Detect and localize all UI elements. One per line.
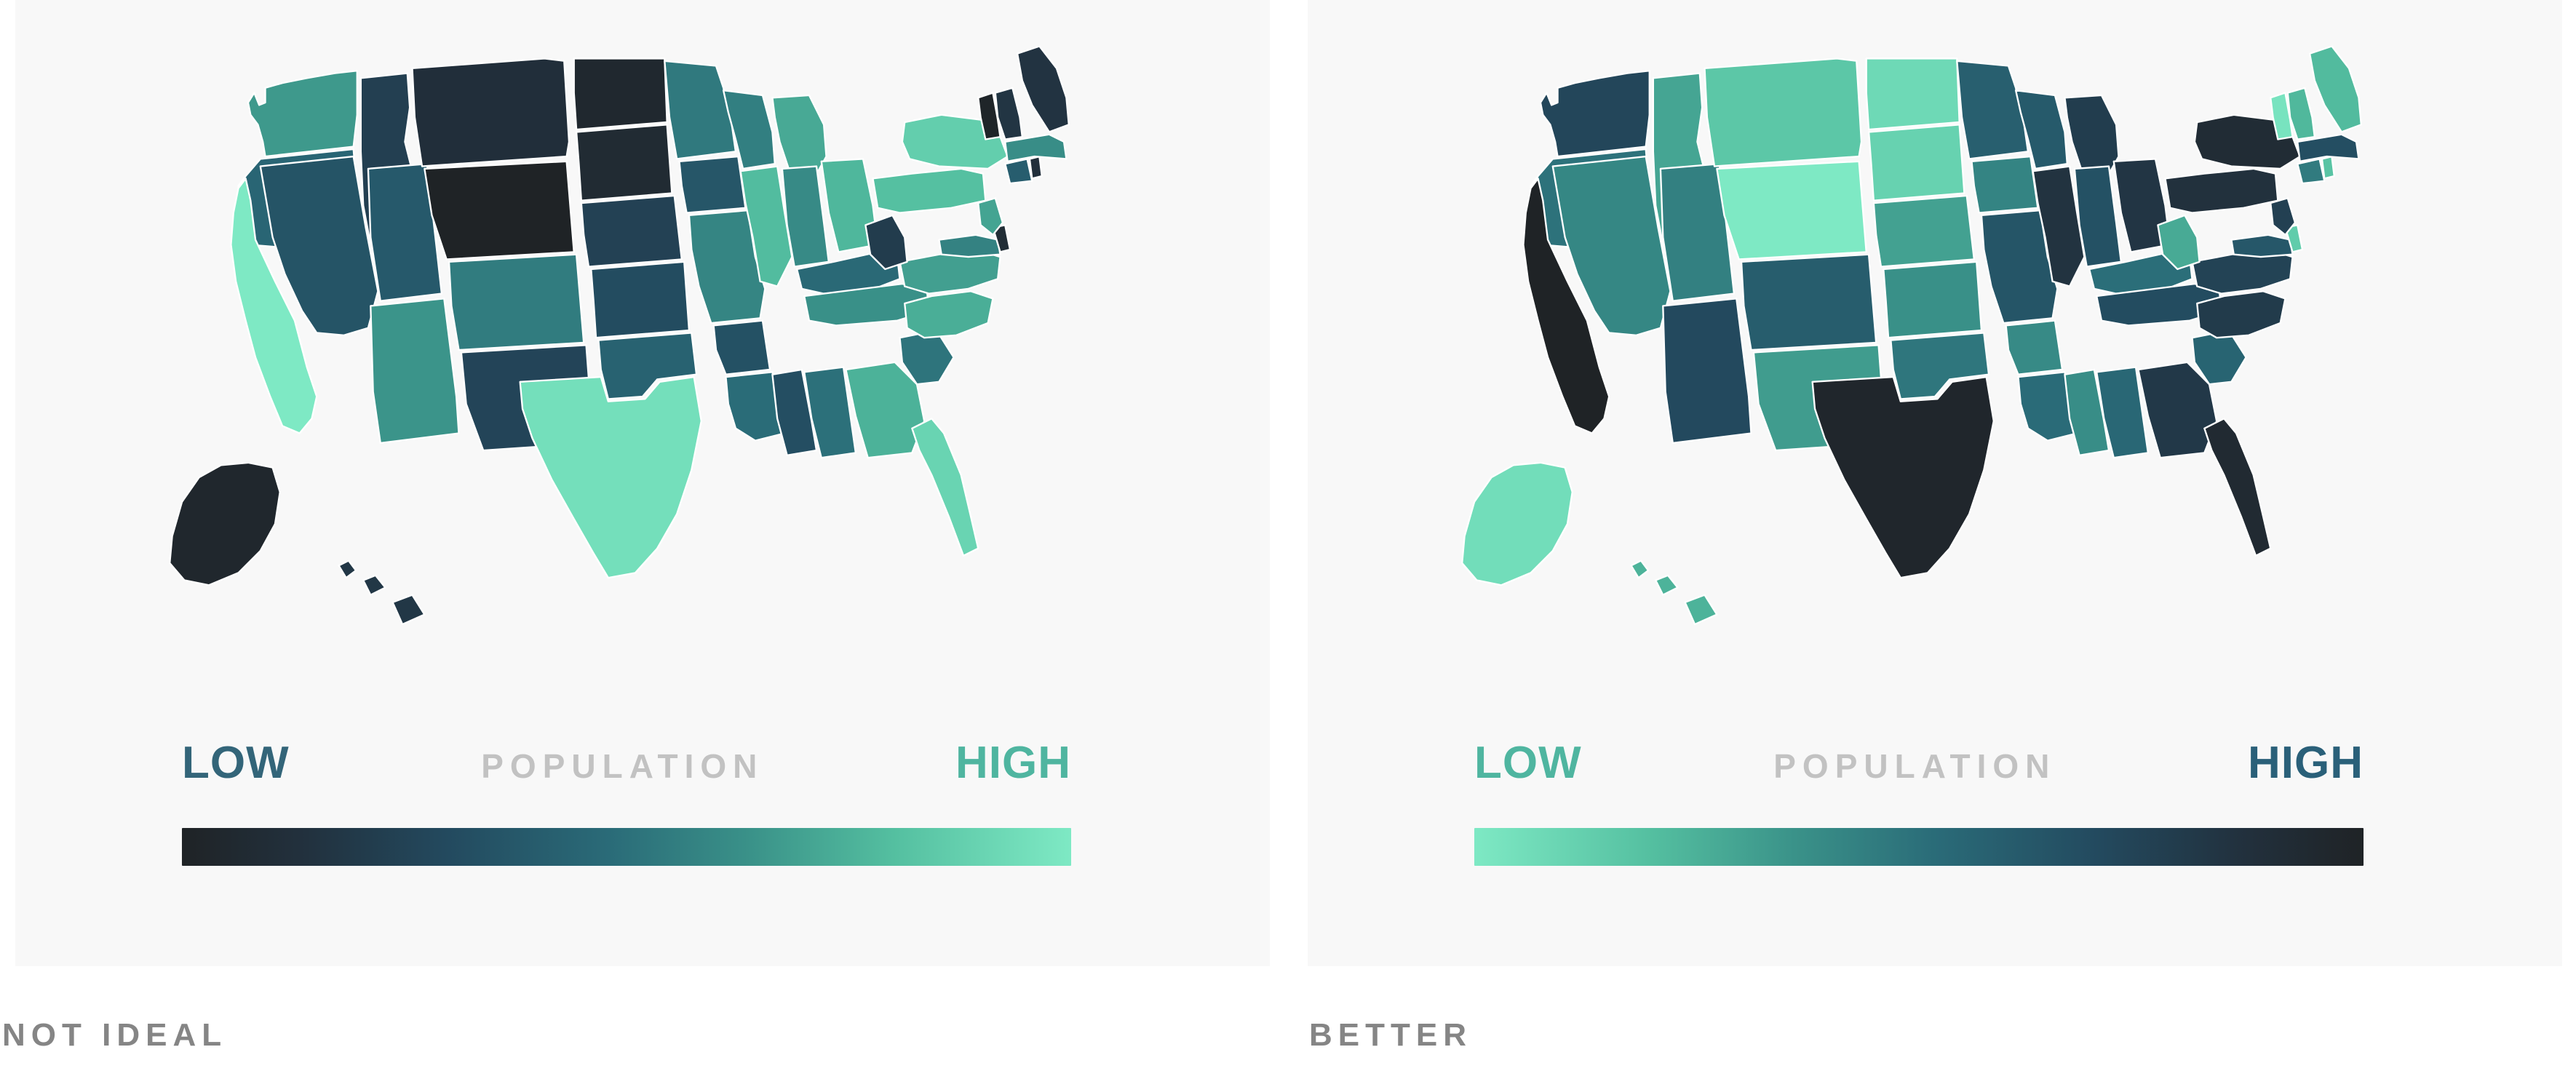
state-fl	[2204, 418, 2270, 556]
state-md	[939, 235, 1000, 257]
panel-better: LOW POPULATION HIGH	[1308, 0, 2562, 966]
legend-low-label: LOW	[182, 741, 290, 786]
state-md	[2231, 235, 2292, 257]
state-ar	[714, 321, 770, 375]
state-hi	[363, 576, 385, 595]
comparison-board: LOW POPULATION HIGH NOT IDEAL LOW POPULA…	[0, 0, 2576, 1087]
state-wy	[1717, 162, 1866, 260]
state-ct	[1005, 159, 1032, 183]
state-ks	[591, 262, 689, 338]
legend-high-label: HIGH	[2248, 741, 2364, 786]
caption-better: BETTER	[1309, 1017, 1472, 1054]
panel-not-ideal: LOW POPULATION HIGH	[15, 0, 1270, 966]
state-tx	[1813, 377, 1994, 578]
legend-low-label: LOW	[1474, 741, 1582, 786]
state-sd	[576, 124, 672, 200]
state-mt	[1705, 58, 1861, 166]
state-tx	[520, 377, 701, 578]
state-mn	[664, 61, 736, 159]
state-ct	[2297, 159, 2324, 183]
state-ak	[170, 463, 280, 585]
state-ak	[1462, 463, 1573, 585]
legend-labels-right: LOW POPULATION HIGH	[1474, 741, 2364, 793]
state-hi	[1655, 576, 1677, 595]
choropleth-map-right	[1308, 29, 2562, 764]
us-map-svg-right	[1308, 29, 2562, 764]
state-sd	[1869, 124, 1964, 200]
caption-not-ideal: NOT IDEAL	[2, 1017, 227, 1054]
state-hi	[393, 595, 425, 624]
state-az	[1663, 298, 1751, 443]
state-ne	[1874, 196, 1974, 267]
state-wa	[1541, 71, 1650, 156]
state-hi	[1685, 595, 1717, 624]
state-mi	[2064, 95, 2118, 178]
state-pa	[872, 169, 985, 213]
state-nd	[574, 58, 667, 130]
state-ks	[1883, 262, 1981, 338]
legend-color-ramp	[182, 828, 1071, 866]
state-ar	[2006, 321, 2062, 375]
state-nd	[1867, 58, 1960, 130]
state-ne	[581, 196, 682, 267]
state-fl	[912, 418, 978, 556]
legend-variable-label: POPULATION	[1773, 749, 2056, 783]
legend-right: LOW POPULATION HIGH	[1474, 741, 2364, 866]
legend-high-label: HIGH	[955, 741, 1071, 786]
state-mi	[772, 95, 826, 178]
state-co	[449, 255, 584, 350]
state-az	[370, 298, 458, 443]
state-co	[1741, 255, 1876, 350]
legend-labels-left: LOW POPULATION HIGH	[182, 741, 1071, 793]
state-ia	[680, 156, 746, 212]
state-wa	[248, 71, 357, 156]
state-mt	[413, 58, 569, 166]
state-ri	[1030, 156, 1042, 178]
state-mn	[1957, 61, 2028, 159]
state-me	[1017, 47, 1069, 132]
us-map-svg-left	[15, 29, 1270, 764]
state-hi	[339, 561, 357, 578]
legend-left: LOW POPULATION HIGH	[182, 741, 1071, 866]
legend-color-ramp	[1474, 828, 2364, 866]
state-hi	[1631, 561, 1649, 578]
legend-variable-label: POPULATION	[481, 749, 763, 783]
choropleth-map-left	[15, 29, 1270, 764]
state-ia	[1972, 156, 2038, 212]
state-pa	[2165, 169, 2278, 213]
state-ri	[2322, 156, 2334, 178]
state-me	[2310, 47, 2361, 132]
state-wy	[424, 162, 573, 260]
